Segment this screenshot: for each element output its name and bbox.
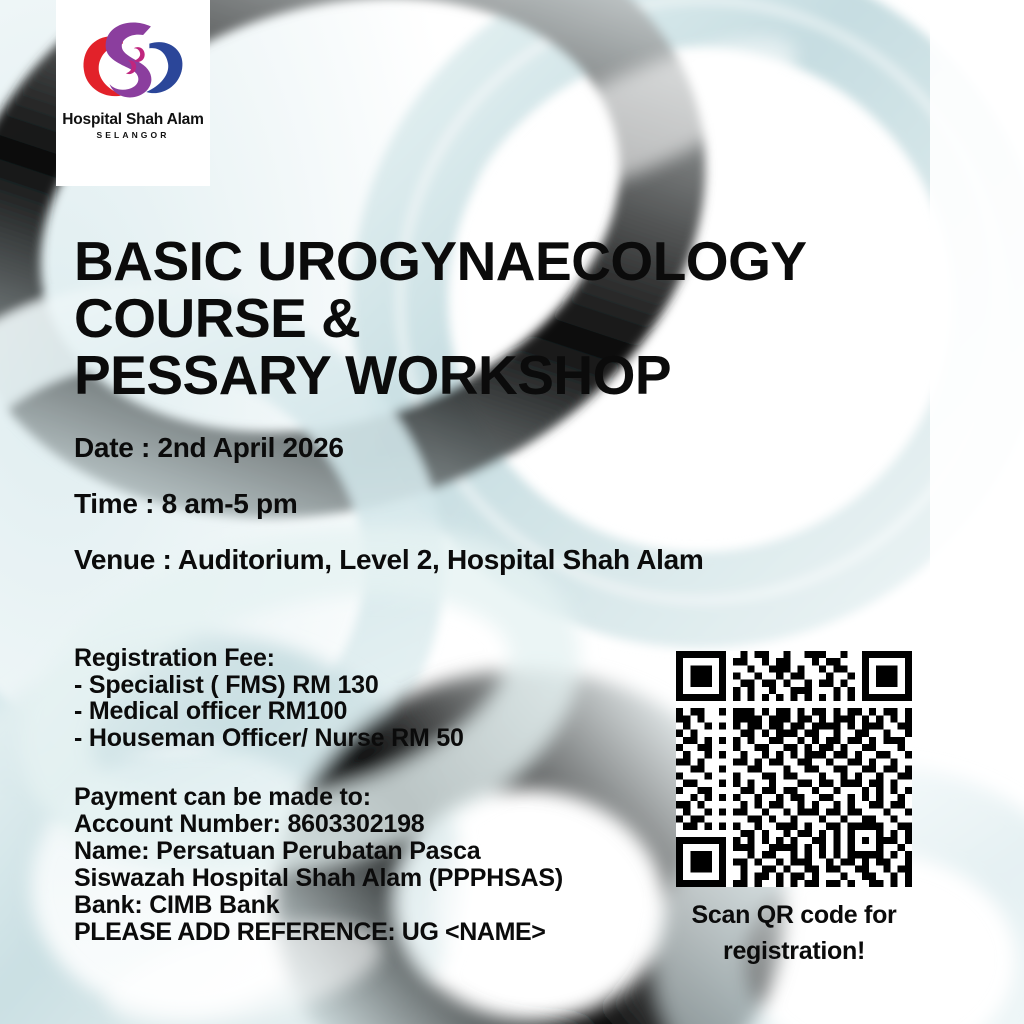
payment-bank: Bank: CIMB Bank bbox=[74, 892, 563, 919]
logo-wordmark: Hospital Shah Alam bbox=[56, 111, 210, 129]
event-time: Time : 8 am-5 pm bbox=[74, 489, 704, 519]
poster-title: BASIC UROGYNAECOLOGY COURSE & PESSARY WO… bbox=[74, 233, 807, 404]
fee-item-specialist: - Specialist ( FMS) RM 130 bbox=[74, 672, 464, 699]
logo-card: Hospital Shah Alam SELANGOR bbox=[56, 0, 210, 186]
payment-account-number: Account Number: 8603302198 bbox=[74, 811, 563, 838]
qr-caption-line-2: registration! bbox=[676, 933, 912, 969]
fee-item-medical-officer: - Medical officer RM100 bbox=[74, 698, 464, 725]
logo-subtitle: SELANGOR bbox=[56, 130, 210, 140]
qr-registration-block[interactable]: Scan QR code for registration! bbox=[676, 651, 912, 969]
title-line-2: COURSE & bbox=[74, 290, 807, 347]
event-venue: Venue : Auditorium, Level 2, Hospital Sh… bbox=[74, 545, 704, 575]
payment-heading: Payment can be made to: bbox=[74, 784, 563, 811]
payment-account-name-1: Name: Persatuan Perubatan Pasca bbox=[74, 838, 563, 865]
qr-code-icon[interactable] bbox=[676, 651, 912, 887]
payment-block: Payment can be made to: Account Number: … bbox=[74, 784, 563, 946]
poster-canvas: Hospital Shah Alam SELANGOR BASIC UROGYN… bbox=[0, 0, 1024, 1024]
qr-caption-line-1: Scan QR code for bbox=[676, 897, 912, 933]
fee-item-houseman-nurse: - Houseman Officer/ Nurse RM 50 bbox=[74, 725, 464, 752]
hospital-logo-icon bbox=[74, 14, 192, 106]
event-details: Date : 2nd April 2026 Time : 8 am-5 pm V… bbox=[74, 433, 704, 575]
payment-reference-note: PLEASE ADD REFERENCE: UG <NAME> bbox=[74, 919, 563, 946]
registration-fee-block: Registration Fee: - Specialist ( FMS) RM… bbox=[74, 645, 464, 751]
registration-fee-heading: Registration Fee: bbox=[74, 645, 464, 672]
qr-caption: Scan QR code for registration! bbox=[676, 897, 912, 969]
event-date: Date : 2nd April 2026 bbox=[74, 433, 704, 463]
title-line-1: BASIC UROGYNAECOLOGY bbox=[74, 233, 807, 290]
payment-account-name-2: Siswazah Hospital Shah Alam (PPPHSAS) bbox=[74, 865, 563, 892]
title-line-3: PESSARY WORKSHOP bbox=[74, 347, 807, 404]
